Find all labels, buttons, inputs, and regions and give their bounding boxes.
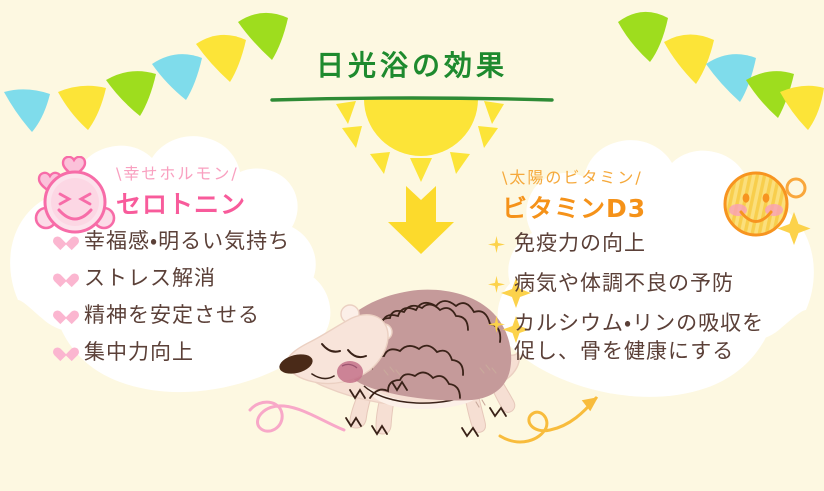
list-serotonin: 幸福感・明るい気持ち ストレス解消 精神を安定させる 集中力向上 xyxy=(34,228,364,367)
sparkle-bullet-icon xyxy=(488,236,514,253)
heart-bullet-icon xyxy=(58,345,84,359)
title-block: 日光浴の効果 xyxy=(0,44,824,84)
panel-kicker-text: 太陽のビタミン xyxy=(509,168,635,187)
sun-eye-right xyxy=(763,193,770,202)
list-item: カルシウム・リンの吸収を 促し、骨を健康にする xyxy=(488,310,800,366)
sun-orbit-dot xyxy=(787,179,805,197)
list-item-label: 幸福感・明るい気持ち xyxy=(84,228,364,256)
sparkle-bullet-icon xyxy=(488,276,514,293)
bunting-flag-right-5 xyxy=(780,86,824,130)
sparkle-bullet-icon xyxy=(488,316,514,333)
sun-eye-left xyxy=(743,193,750,202)
list-item: 精神を安定させる xyxy=(58,302,364,330)
swirl-left-decoration xyxy=(248,382,388,462)
infographic-canvas: 日光浴の効果 xyxy=(0,0,824,491)
pink-smiley-heart-icon xyxy=(30,156,122,246)
list-item-label: ストレス解消 xyxy=(84,265,364,293)
heart-bullet-icon xyxy=(58,308,84,322)
list-item: 病気や体調不良の予防 xyxy=(488,270,800,298)
panel-kicker-serotonin: \幸せホルモン/ xyxy=(116,160,364,184)
bunting-flag-left-2 xyxy=(58,86,106,130)
down-arrow xyxy=(388,186,454,254)
panel-title-serotonin: セロトニン xyxy=(116,185,364,221)
bunting-flag-left-1 xyxy=(4,89,50,132)
list-item: ストレス解消 xyxy=(58,265,364,293)
page-title: 日光浴の効果 xyxy=(316,44,508,84)
swirl-right-decoration xyxy=(488,382,628,462)
sun-face xyxy=(725,173,787,235)
list-item-label: 集中力向上 xyxy=(84,339,364,367)
slash-right: / xyxy=(231,164,238,183)
list-item-label: 精神を安定させる xyxy=(84,302,364,330)
orange-sun-smiley-icon xyxy=(716,160,812,252)
list-item: 集中力向上 xyxy=(58,339,364,367)
panel-kicker-text: 幸せホルモン xyxy=(123,164,231,183)
slash-right: / xyxy=(635,168,642,187)
heart-bullet-icon xyxy=(58,271,84,285)
list-item-label: カルシウム・リンの吸収を 促し、骨を健康にする xyxy=(514,310,800,366)
sun-body xyxy=(364,99,478,156)
list-item-label: 病気や体調不良の予防 xyxy=(514,270,800,298)
